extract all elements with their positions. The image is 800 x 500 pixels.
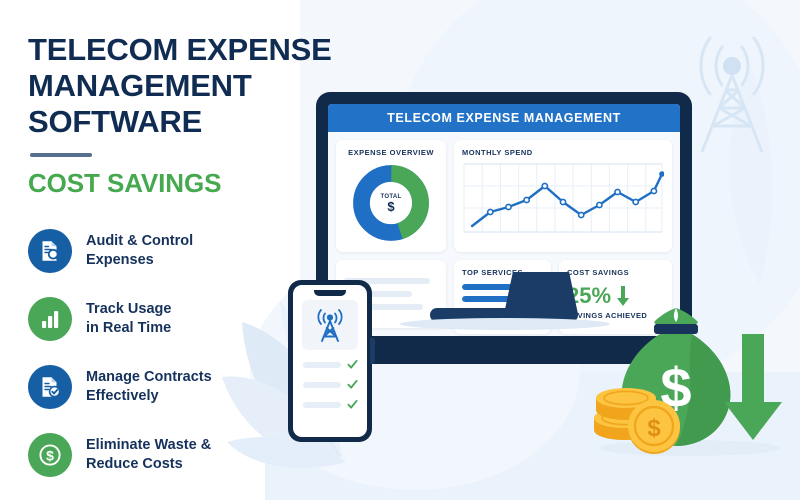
feature-item-audit-control[interactable]: Audit & Control Expenses [28, 223, 358, 279]
donut-center-label: TOTAL $ [371, 183, 411, 223]
monthly-spend-chart [462, 162, 664, 242]
phone-notch [314, 290, 346, 296]
headline-line-3: SOFTWARE [28, 104, 358, 140]
feature-label: Eliminate Waste & Reduce Costs [86, 436, 211, 474]
phone-side-button[interactable] [370, 338, 375, 364]
dollar-circle-icon-badge: $ [28, 433, 72, 477]
cell-tower-icon [312, 306, 348, 344]
feature-label-line-2: Expenses [86, 251, 193, 270]
savings-illustration: $ $ [592, 300, 792, 470]
cost-savings-title: COST SAVINGS [567, 268, 664, 277]
cell-tower-tile [302, 300, 358, 350]
infographic-canvas: TELECOM EXPENSE MANAGEMENT SOFTWARE COST… [0, 0, 800, 500]
phone-line-placeholder [303, 362, 341, 368]
dashboard-title: TELECOM EXPENSE MANAGEMENT [387, 111, 621, 125]
page-title: TELECOM EXPENSE MANAGEMENT SOFTWARE [28, 32, 358, 140]
phone-checklist-item[interactable] [303, 379, 358, 390]
phone-screen [293, 285, 367, 437]
check-icon [347, 379, 358, 390]
monthly-spend-title: MONTHLY SPEND [462, 148, 664, 157]
headline-line-1: TELECOM EXPENSE [28, 32, 358, 68]
big-arrow-down-icon [724, 334, 782, 440]
phone-checklist [303, 359, 358, 410]
money-graphics: $ $ [592, 300, 792, 470]
feature-label-line-2: Effectively [86, 387, 212, 406]
document-search-icon [37, 238, 63, 264]
feature-label: Track Usage in Real Time [86, 300, 171, 338]
feature-label-line-1: Manage Contracts [86, 368, 212, 387]
feature-label-line-1: Audit & Control [86, 232, 193, 251]
document-check-icon-badge [28, 365, 72, 409]
expense-overview-title: EXPENSE OVERVIEW [348, 148, 434, 157]
svg-text:$: $ [647, 415, 661, 442]
feature-label: Audit & Control Expenses [86, 232, 193, 270]
subtitle: COST SAVINGS [28, 168, 358, 199]
phone-line-placeholder [303, 402, 341, 408]
phone-line-placeholder [303, 382, 341, 388]
feature-label: Manage Contracts Effectively [86, 368, 212, 406]
dollar-circle-icon: $ [37, 442, 63, 468]
expense-overview-card[interactable]: EXPENSE OVERVIEW TOTAL $ [336, 140, 446, 252]
line-chart-markers [462, 162, 664, 242]
check-icon [347, 399, 358, 410]
dashboard-header: TELECOM EXPENSE MANAGEMENT [328, 104, 680, 132]
monthly-spend-card[interactable]: MONTHLY SPEND [454, 140, 672, 252]
feature-label-line-1: Eliminate Waste & [86, 436, 211, 455]
phone-checklist-item[interactable] [303, 359, 358, 370]
donut-currency-symbol: $ [387, 200, 394, 213]
document-check-icon [37, 374, 63, 400]
headline-line-2: MANAGEMENT [28, 68, 358, 104]
feature-label-line-2: Reduce Costs [86, 455, 211, 474]
phone-checklist-item[interactable] [303, 399, 358, 410]
title-divider [30, 153, 92, 157]
check-icon [347, 359, 358, 370]
svg-text:$: $ [46, 447, 54, 463]
bar-chart-icon [38, 307, 62, 331]
monitor-shadow [400, 318, 610, 330]
feature-label-line-1: Track Usage [86, 300, 171, 319]
document-search-icon-badge [28, 229, 72, 273]
mobile-phone-mockup [288, 280, 372, 442]
expense-donut-chart: TOTAL $ [352, 164, 430, 242]
bar-chart-icon-badge [28, 297, 72, 341]
feature-label-line-2: in Real Time [86, 319, 171, 338]
